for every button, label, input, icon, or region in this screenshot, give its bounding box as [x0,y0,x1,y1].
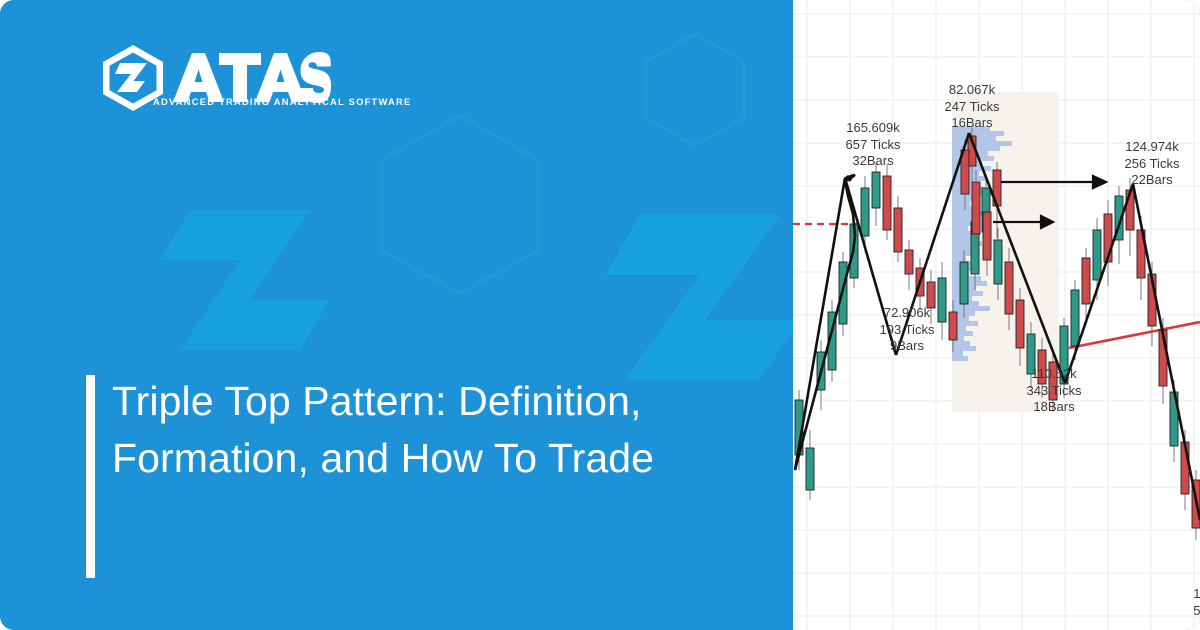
annotation-swing-2-volume: 72.906k [848,305,966,322]
watermark-z-small [140,180,360,380]
annotation-swing-5-volume: 124.974k [1093,139,1200,156]
annotation-swing-2-ticks: 193 Ticks [848,322,966,339]
zigzag-leg-1 [795,178,845,470]
watermark-hexagon-outline-2 [640,30,750,150]
title-accent-bar [86,375,95,578]
page-title-line-2: Formation, and How To Trade [112,430,752,487]
annotation-swing-4-volume: 110.52k [995,366,1113,383]
annotation-swing-6-clipped: 126 571 15 [1145,586,1200,630]
annotation-swing-2: 72.906k 193 Ticks 9Bars [848,305,966,355]
annotation-swing-3: 82.067k 247 Ticks 16Bars [913,82,1031,132]
annotation-swing-5-ticks: 256 Ticks [1093,156,1200,173]
zigzag-leg-6 [1133,184,1200,520]
logo-tagline: ADVANCED TRADING ANALYTICAL SOFTWARE [153,96,412,107]
annotation-swing-4: 110.52k 343 Ticks 18Bars [995,366,1113,416]
left-blue-panel: ADVANCED TRADING ANALYTICAL SOFTWARE Tri… [0,0,793,630]
annotation-swing-4-ticks: 343 Ticks [995,383,1113,400]
annotation-swing-3-ticks: 247 Ticks [913,99,1031,116]
red-trendline [1069,322,1200,348]
annotation-swing-2-bars: 9Bars [848,338,966,355]
annotation-swing-6-volume: 126 [1145,586,1200,603]
annotation-swing-3-volume: 82.067k [913,82,1031,99]
page-title-line-1: Triple Top Pattern: Definition, [112,373,752,430]
annotation-swing-5-bars: 22Bars [1093,172,1200,189]
annotation-swing-5: 124.974k 256 Ticks 22Bars [1093,139,1200,189]
candlestick-chart: 165.609k 657 Ticks 32Bars 72.906k 193 Ti… [793,0,1200,630]
annotation-swing-6-ticks: 571 [1145,603,1200,620]
annotation-swing-1-bars: 32Bars [814,153,932,170]
annotation-swing-3-bars: 16Bars [913,115,1031,132]
annotation-swing-1-ticks: 657 Ticks [814,137,932,154]
article-banner: ADVANCED TRADING ANALYTICAL SOFTWARE Tri… [0,0,1200,630]
watermark-hexagon-outline [370,110,550,300]
annotation-swing-4-bars: 18Bars [995,399,1113,416]
page-title: Triple Top Pattern: Definition, Formatio… [112,373,752,487]
annotation-swing-6-bars: 15 [1145,619,1200,630]
